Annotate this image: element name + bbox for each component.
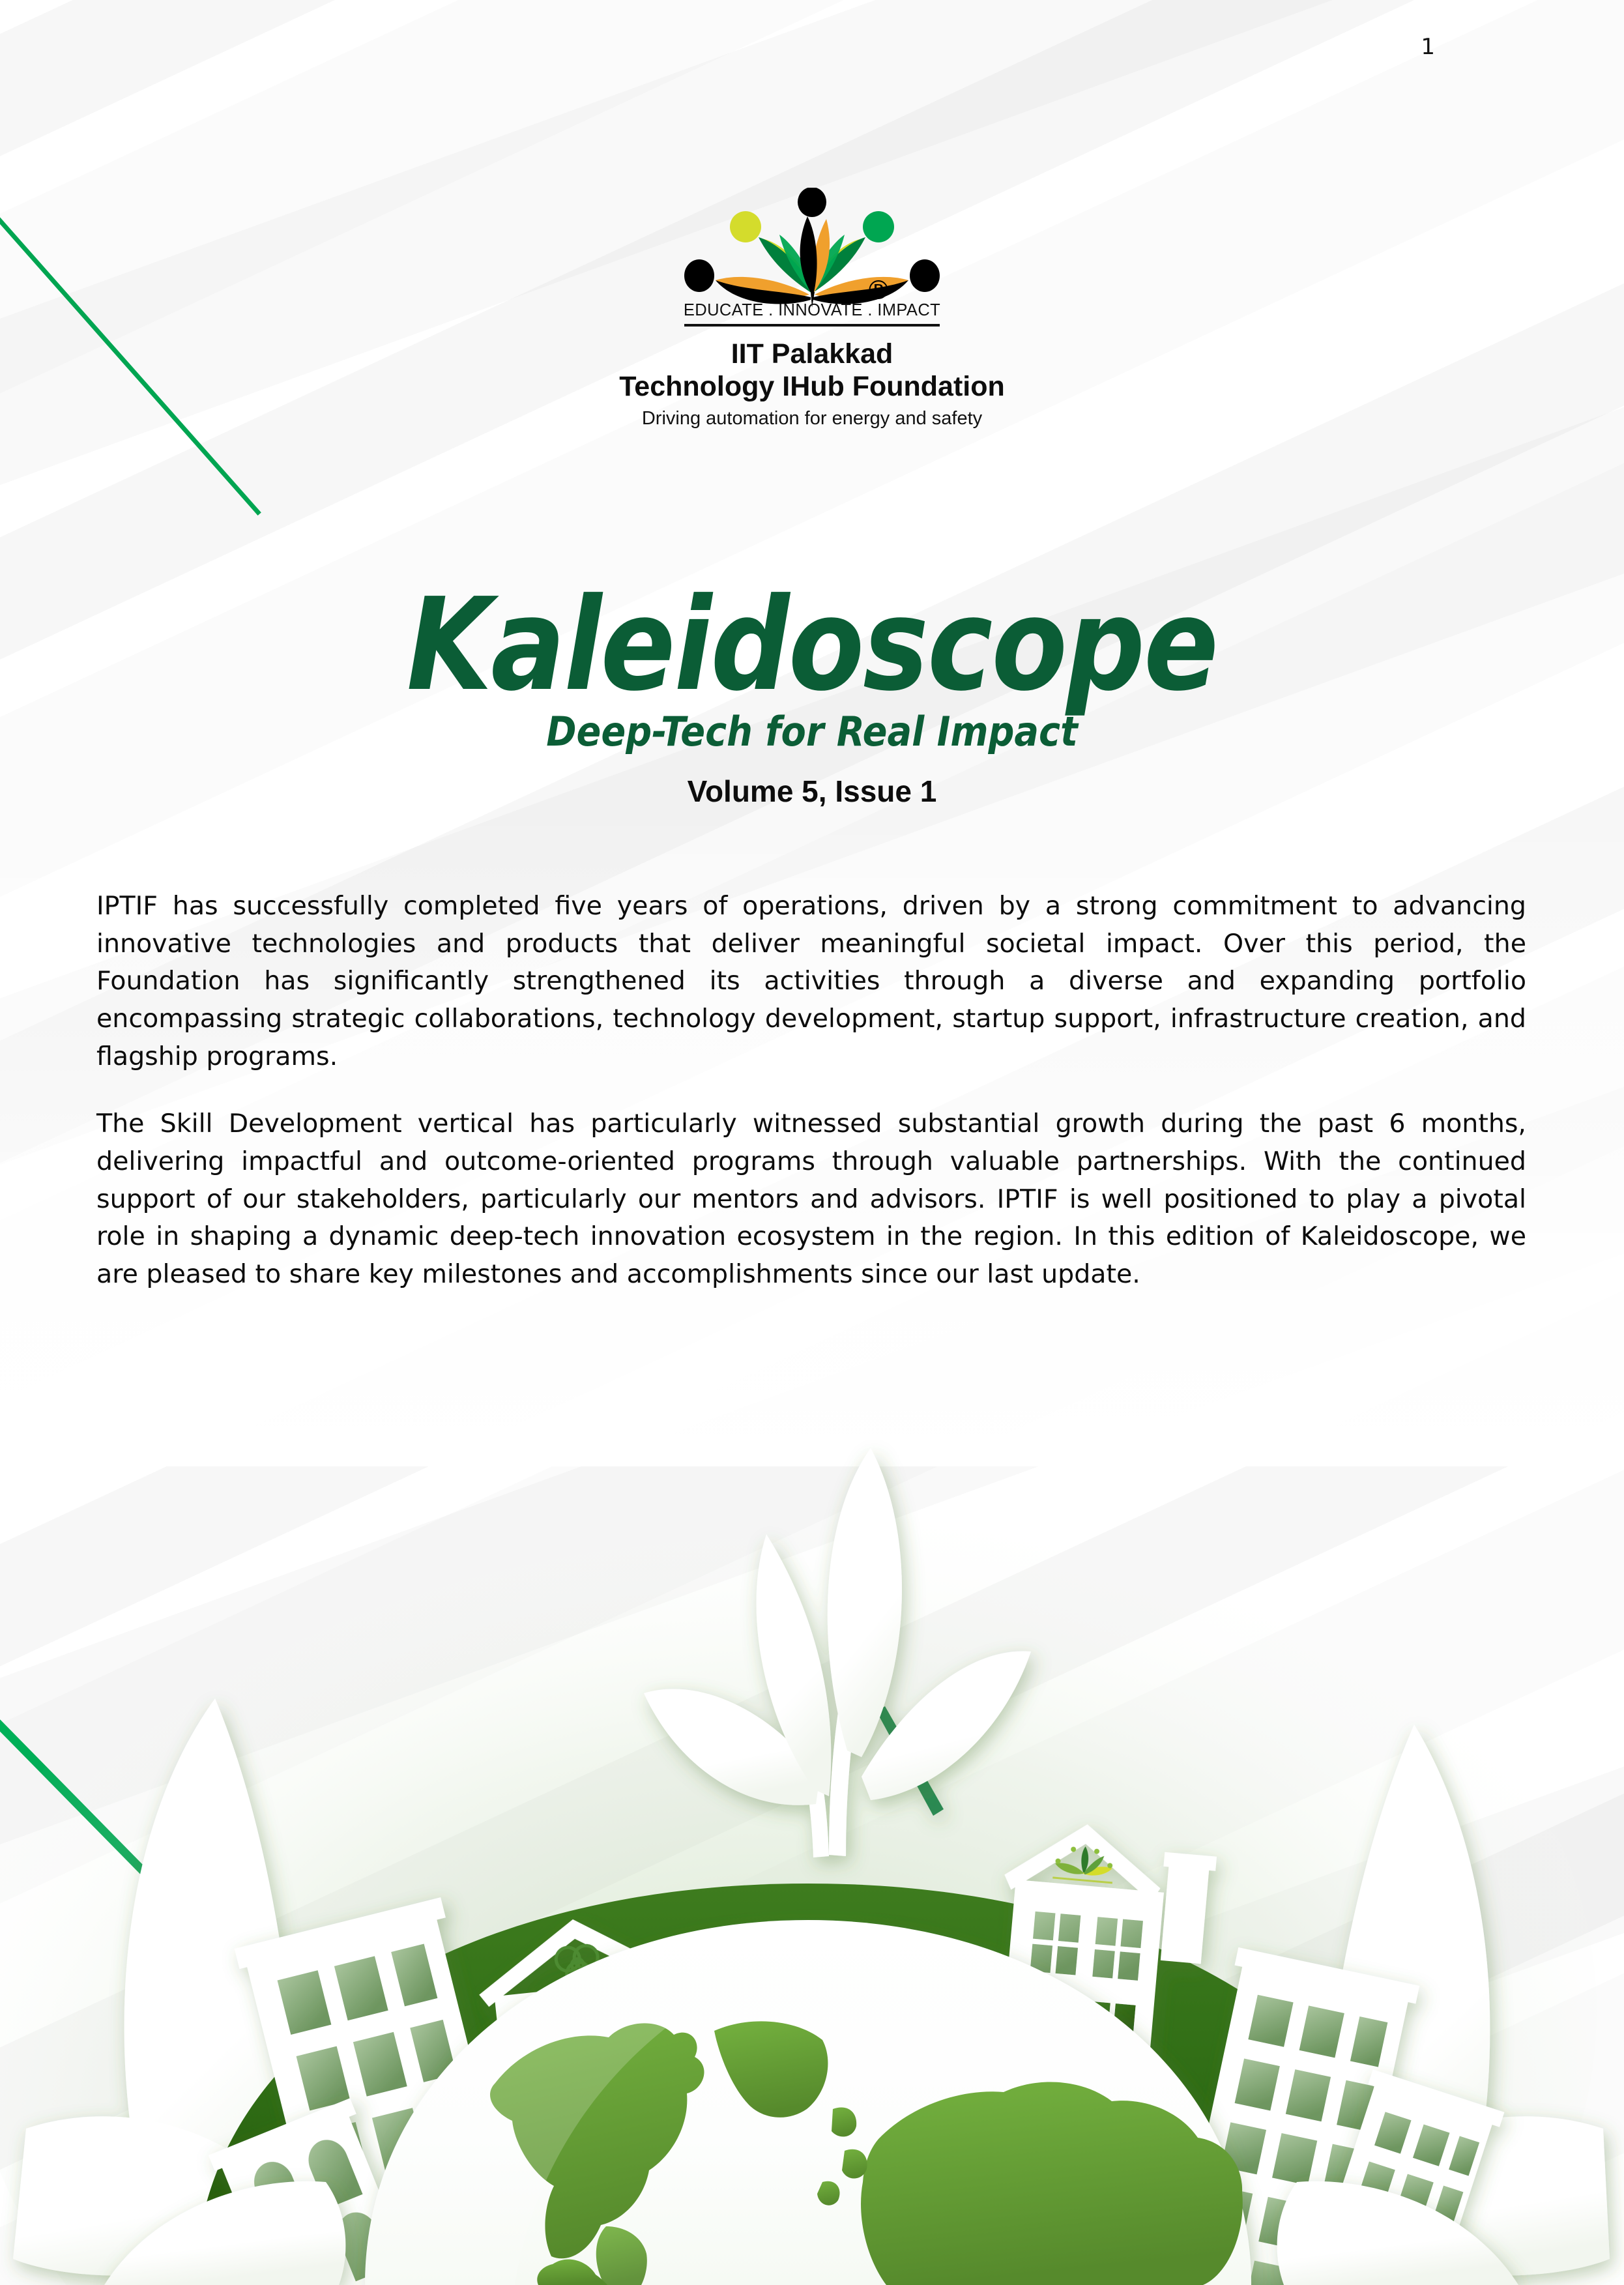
organisation-tagline: Driving automation for energy and safety — [0, 408, 1624, 429]
editorial-paragraph-2: The Skill Development vertical has parti… — [96, 1105, 1526, 1293]
registered-trademark-icon: ® — [865, 278, 892, 304]
editorial-paragraph-1: IPTIF has successfully completed five ye… — [96, 888, 1526, 1075]
green-city-globe-illustration — [0, 1360, 1624, 2285]
newsletter-title: Kaleidoscope — [33, 587, 1591, 704]
organisation-name: IIT Palakkad Technology IHub Foundation — [0, 338, 1624, 403]
newsletter-page: 1 — [0, 0, 1624, 2285]
logo-tagline: EDUCATE . INNOVATE . IMPACT — [684, 301, 940, 320]
issue-label: Volume 5, Issue 1 — [0, 774, 1624, 809]
organisation-name-line2: Technology IHub Foundation — [0, 371, 1624, 403]
logo-divider-rule — [684, 324, 940, 327]
organisation-name-line1: IIT Palakkad — [0, 338, 1624, 371]
masthead: Kaleidoscope Deep-Tech for Real Impact V… — [0, 587, 1624, 809]
page-number: 1 — [1421, 34, 1435, 60]
accent-line-bottom-left — [0, 1714, 205, 1934]
editorial-body: IPTIF has successfully completed five ye… — [96, 888, 1526, 1294]
logo-tagline-row: EDUCATE . INNOVATE . IMPACT — [0, 301, 1624, 327]
organisation-logo-block: ® EDUCATE . INNOVATE . IMPACT IIT Palakk… — [0, 188, 1624, 429]
iptif-lotus-logo-icon: ® — [675, 188, 949, 312]
